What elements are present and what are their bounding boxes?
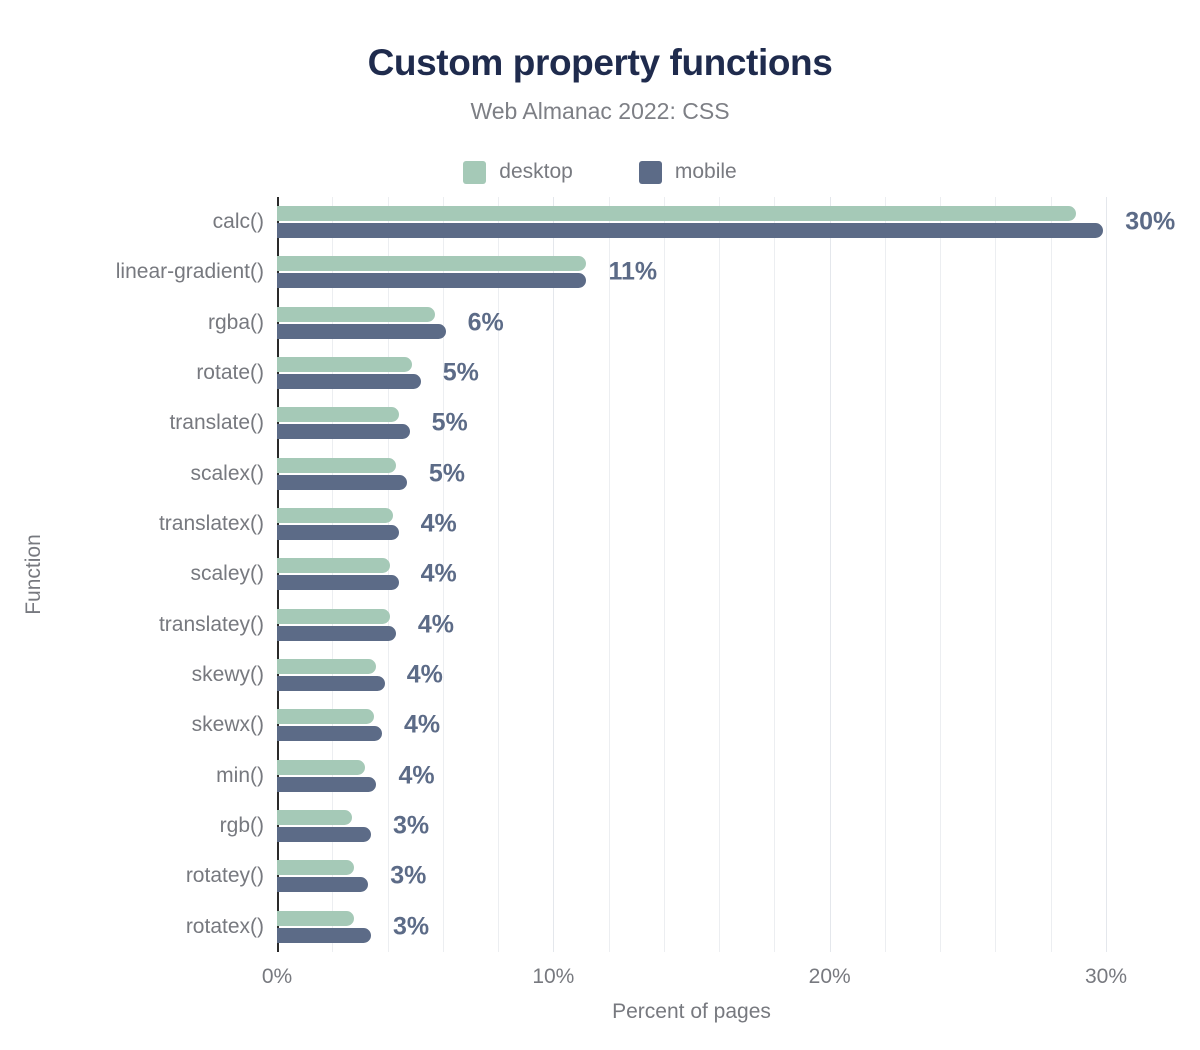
- bar-row[interactable]: scaley()4%: [277, 549, 1200, 599]
- bar-value-label: 4%: [398, 761, 434, 790]
- bar-value-label: 3%: [393, 812, 429, 841]
- y-axis-tick-label: scaley(): [190, 562, 264, 586]
- bar-value-label: 3%: [393, 912, 429, 941]
- bar-mobile[interactable]: [277, 777, 376, 792]
- bar-desktop[interactable]: [277, 458, 396, 473]
- legend-swatch-icon-desktop: [463, 161, 486, 184]
- x-axis-tick-label: 30%: [1085, 965, 1127, 989]
- chart-title: Custom property functions: [0, 42, 1200, 84]
- x-axis-tick-label: 0%: [262, 965, 292, 989]
- bar-desktop[interactable]: [277, 407, 399, 422]
- bar-row[interactable]: rgba()6%: [277, 298, 1200, 348]
- bar-row[interactable]: rotatey()3%: [277, 851, 1200, 901]
- legend-item-mobile[interactable]: mobile: [639, 160, 737, 184]
- bar-value-label: 4%: [404, 711, 440, 740]
- bar-mobile[interactable]: [277, 424, 410, 439]
- bar-rows: calc()30%linear-gradient()11%rgba()6%rot…: [277, 197, 1106, 952]
- bar-row[interactable]: translatex()4%: [277, 499, 1200, 549]
- legend-label-mobile: mobile: [675, 160, 737, 184]
- bar-row[interactable]: rotatex()3%: [277, 902, 1200, 952]
- bar-row[interactable]: skewx()4%: [277, 700, 1200, 750]
- chart-legend: desktop mobile: [0, 160, 1200, 184]
- y-axis-tick-label: translate(): [169, 411, 264, 435]
- y-axis-tick-label: linear-gradient(): [116, 260, 264, 284]
- bar-row[interactable]: min()4%: [277, 751, 1200, 801]
- bar-desktop[interactable]: [277, 659, 376, 674]
- bar-desktop[interactable]: [277, 709, 374, 724]
- bar-desktop[interactable]: [277, 357, 412, 372]
- bar-mobile[interactable]: [277, 827, 371, 842]
- bar-mobile[interactable]: [277, 726, 382, 741]
- bar-desktop[interactable]: [277, 860, 354, 875]
- bar-mobile[interactable]: [277, 475, 407, 490]
- bar-mobile[interactable]: [277, 676, 385, 691]
- plot-area: calc()30%linear-gradient()11%rgba()6%rot…: [277, 197, 1106, 952]
- bar-mobile[interactable]: [277, 223, 1103, 238]
- chart-subtitle: Web Almanac 2022: CSS: [0, 98, 1200, 125]
- bar-mobile[interactable]: [277, 575, 399, 590]
- y-axis-tick-label: rotatex(): [186, 915, 264, 939]
- legend-label-desktop: desktop: [499, 160, 573, 184]
- x-axis-tick-label: 10%: [532, 965, 574, 989]
- bar-value-label: 4%: [407, 661, 443, 690]
- bar-value-label: 5%: [429, 459, 465, 488]
- bar-desktop[interactable]: [277, 256, 586, 271]
- bar-value-label: 11%: [608, 258, 657, 287]
- bar-desktop[interactable]: [277, 307, 435, 322]
- bar-desktop[interactable]: [277, 508, 393, 523]
- bar-desktop[interactable]: [277, 911, 354, 926]
- bar-value-label: 4%: [421, 560, 457, 589]
- y-axis-tick-label: rgba(): [208, 311, 264, 335]
- y-axis-tick-label: translatex(): [159, 512, 264, 536]
- bar-row[interactable]: calc()30%: [277, 197, 1200, 247]
- bar-mobile[interactable]: [277, 877, 368, 892]
- bar-desktop[interactable]: [277, 810, 352, 825]
- bar-mobile[interactable]: [277, 928, 371, 943]
- y-axis-tick-label: rotate(): [196, 361, 264, 385]
- bar-desktop[interactable]: [277, 760, 365, 775]
- bar-row[interactable]: translatey()4%: [277, 600, 1200, 650]
- bar-row[interactable]: rotate()5%: [277, 348, 1200, 398]
- bar-value-label: 4%: [421, 510, 457, 539]
- y-axis-tick-label: calc(): [213, 210, 264, 234]
- y-axis-tick-label: rotatey(): [186, 864, 264, 888]
- bar-mobile[interactable]: [277, 525, 399, 540]
- bar-row[interactable]: scalex()5%: [277, 449, 1200, 499]
- chart-container: Custom property functions Web Almanac 20…: [0, 0, 1200, 1050]
- bar-desktop[interactable]: [277, 609, 390, 624]
- bar-value-label: 4%: [418, 610, 454, 639]
- bar-mobile[interactable]: [277, 626, 396, 641]
- bar-row[interactable]: linear-gradient()11%: [277, 247, 1200, 297]
- bar-mobile[interactable]: [277, 374, 421, 389]
- bar-desktop[interactable]: [277, 206, 1076, 221]
- bar-mobile[interactable]: [277, 273, 586, 288]
- bar-value-label: 6%: [468, 308, 504, 337]
- bar-desktop[interactable]: [277, 558, 390, 573]
- y-axis-tick-label: rgb(): [220, 814, 264, 838]
- legend-item-desktop[interactable]: desktop: [463, 160, 573, 184]
- legend-swatch-icon-mobile: [639, 161, 662, 184]
- y-axis-tick-label: skewx(): [192, 713, 264, 737]
- y-axis-tick-label: scalex(): [190, 462, 264, 486]
- y-axis-tick-label: translatey(): [159, 613, 264, 637]
- bar-mobile[interactable]: [277, 324, 446, 339]
- x-axis-tick-label: 20%: [809, 965, 851, 989]
- x-axis-label: Percent of pages: [277, 1000, 1106, 1024]
- y-axis-tick-label: skewy(): [192, 663, 264, 687]
- y-axis-tick-label: min(): [216, 764, 264, 788]
- bar-row[interactable]: rgb()3%: [277, 801, 1200, 851]
- bar-value-label: 5%: [443, 359, 479, 388]
- y-axis-label: Function: [17, 197, 51, 952]
- bar-row[interactable]: skewy()4%: [277, 650, 1200, 700]
- bar-value-label: 30%: [1125, 208, 1175, 237]
- bar-row[interactable]: translate()5%: [277, 398, 1200, 448]
- bar-value-label: 3%: [390, 862, 426, 891]
- bar-value-label: 5%: [432, 409, 468, 438]
